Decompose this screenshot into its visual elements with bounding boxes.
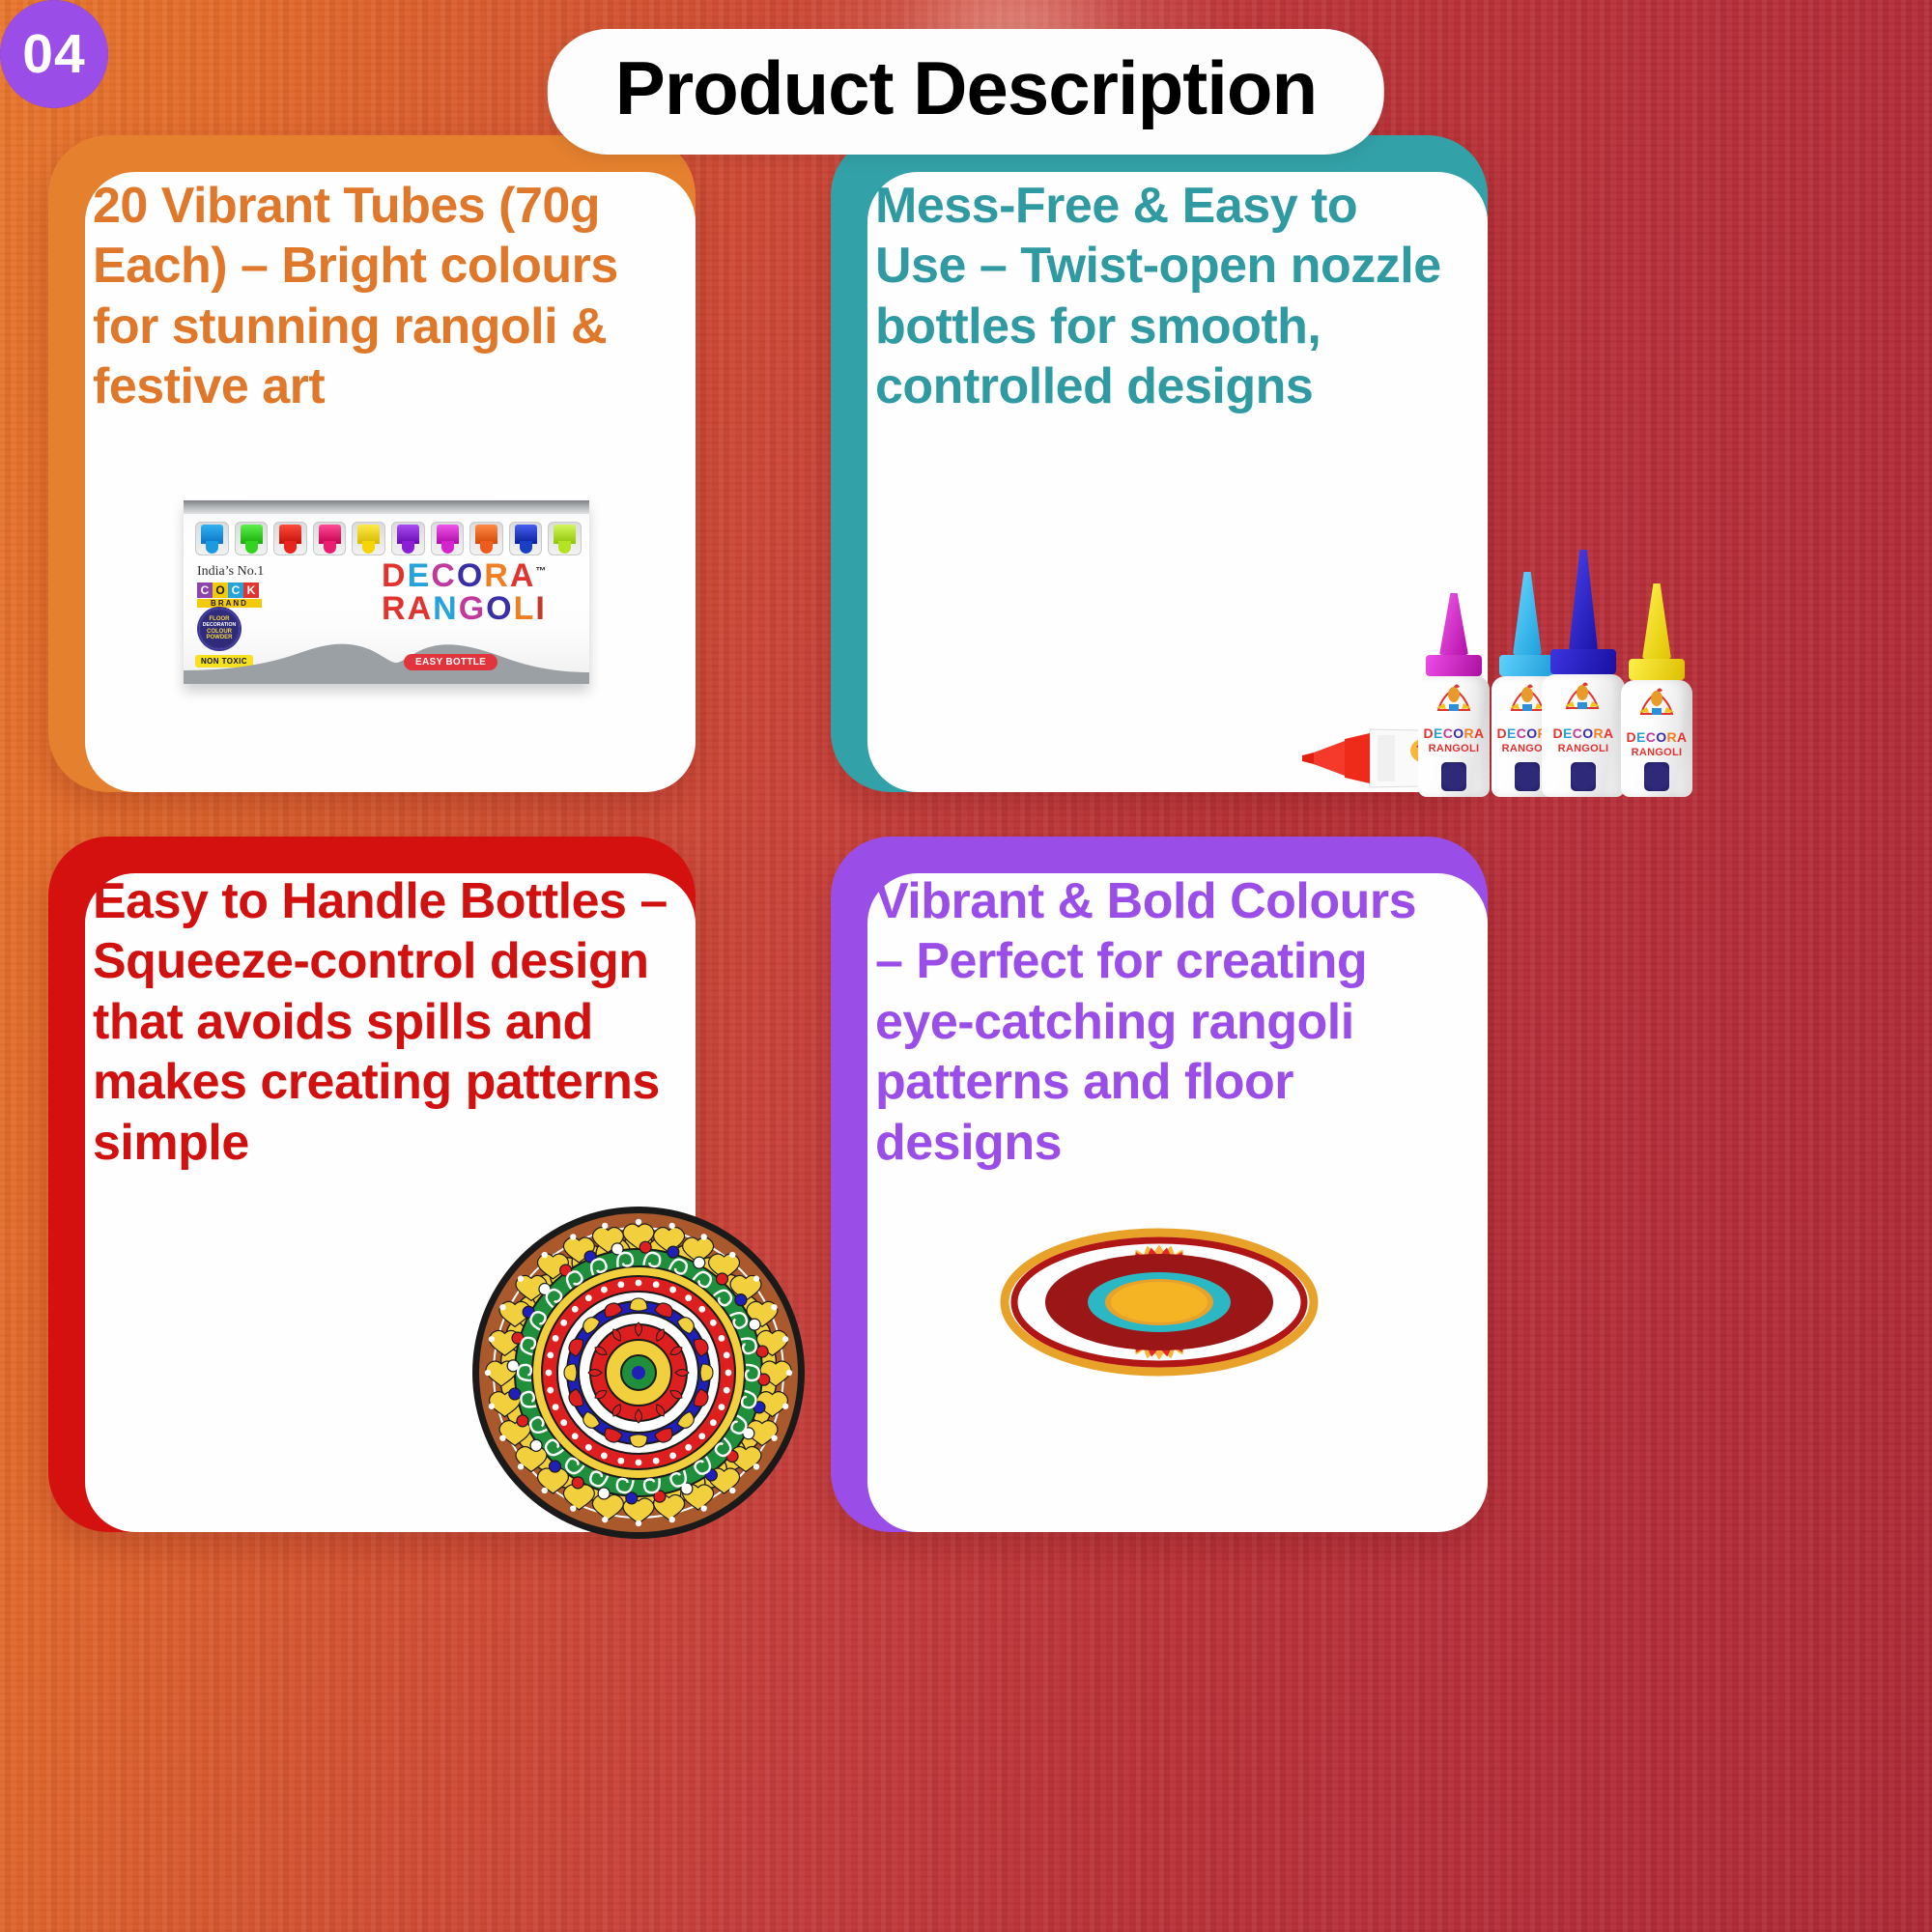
bottle-label-rangoli: RANGOLI — [1625, 747, 1689, 758]
card-2-headline: Mess-Free & Easy to Use – Twist-open noz… — [875, 176, 1445, 417]
nozzle — [1513, 572, 1542, 655]
cap-swatch — [235, 522, 269, 555]
bottle-cap — [1550, 649, 1616, 674]
page-title: Product Description — [615, 50, 1317, 126]
bottle-label-decora: DECORA — [1422, 725, 1486, 741]
bottle-label-rangoli: RANGOLI — [1546, 743, 1621, 754]
bottle-cap — [1499, 655, 1555, 676]
bottle-seal — [1644, 762, 1669, 791]
card-4-number-badge: 04 — [0, 0, 108, 108]
cock-logo-icon — [1637, 685, 1676, 718]
feature-card-grid: 20 Vibrant Tubes (70g Each) – Bright col… — [0, 0, 1932, 1932]
brand-word-label: BRAND — [197, 599, 262, 608]
brand-letter: C — [197, 582, 213, 598]
rangoli-flower-art — [927, 1206, 1391, 1399]
brand-letter: O — [213, 582, 228, 598]
box-cap-row — [195, 522, 582, 555]
header-pill: Product Description — [548, 29, 1384, 155]
nozzle — [1642, 583, 1671, 659]
bottle-seal — [1515, 762, 1540, 791]
bottle-seal — [1571, 762, 1596, 791]
cap-swatch — [469, 522, 503, 555]
card-1-headline: 20 Vibrant Tubes (70g Each) – Bright col… — [93, 176, 653, 417]
cap-swatch — [352, 522, 385, 555]
cap-swatch — [509, 522, 543, 555]
box-face: India’s No.1 C O C K BRAND FLOOR DECORAT… — [184, 500, 589, 684]
cap-swatch — [313, 522, 347, 555]
feature-card-4: Vibrant & Bold Colours – Perfect for cre… — [831, 837, 1488, 1532]
box-top-edge — [184, 500, 589, 514]
bottle-label-decora: DECORA — [1625, 729, 1689, 745]
box-wave-graphic — [184, 638, 589, 684]
cap-swatch — [391, 522, 425, 555]
bottle-label-decora: DECORA — [1546, 725, 1621, 741]
bottle-cap — [1629, 659, 1685, 680]
cock-logo-icon — [1563, 679, 1602, 712]
brand-letter: K — [243, 582, 259, 598]
rangoli-mandala-art — [469, 1204, 808, 1542]
cap-swatch — [273, 522, 307, 555]
rangoli-bottles-photo: DECORA RANGOLI DECORA RANGOLI — [1302, 565, 1689, 797]
bottle-label-rangoli: RANGOLI — [1422, 743, 1486, 754]
feature-card-1: 20 Vibrant Tubes (70g Each) – Bright col… — [48, 135, 696, 792]
rangoli-wordmark: RANGOLI — [382, 593, 547, 624]
trademark-symbol: ™ — [535, 566, 548, 578]
india-no1-label: India’s No.1 — [197, 564, 264, 580]
cap-swatch — [195, 522, 229, 555]
card-3-headline: Easy to Handle Bottles – Squeeze-control… — [93, 871, 672, 1173]
easy-bottle-badge: EASY BOTTLE — [404, 654, 497, 670]
cap-swatch — [431, 522, 465, 555]
cap-swatch — [548, 522, 582, 555]
box-brand-block: India’s No.1 C O C K BRAND — [197, 564, 264, 608]
bottle-seal — [1441, 762, 1466, 791]
nozzle — [1439, 593, 1468, 655]
card-4-headline: Vibrant & Bold Colours – Perfect for cre… — [875, 871, 1455, 1173]
cock-logo-icon — [1508, 681, 1547, 714]
nozzle — [1569, 550, 1598, 650]
bottle-cap — [1426, 655, 1482, 676]
cock-logo-icon — [1435, 681, 1473, 714]
rangoli-box-photo: India’s No.1 C O C K BRAND FLOOR DECORAT… — [184, 500, 589, 684]
seal-line-3: COLOUR — [207, 629, 232, 636]
brand-letter: C — [228, 582, 243, 598]
cock-brand-logo: C O C K — [197, 582, 264, 598]
decora-wordmark: DECORA™ — [382, 560, 548, 591]
